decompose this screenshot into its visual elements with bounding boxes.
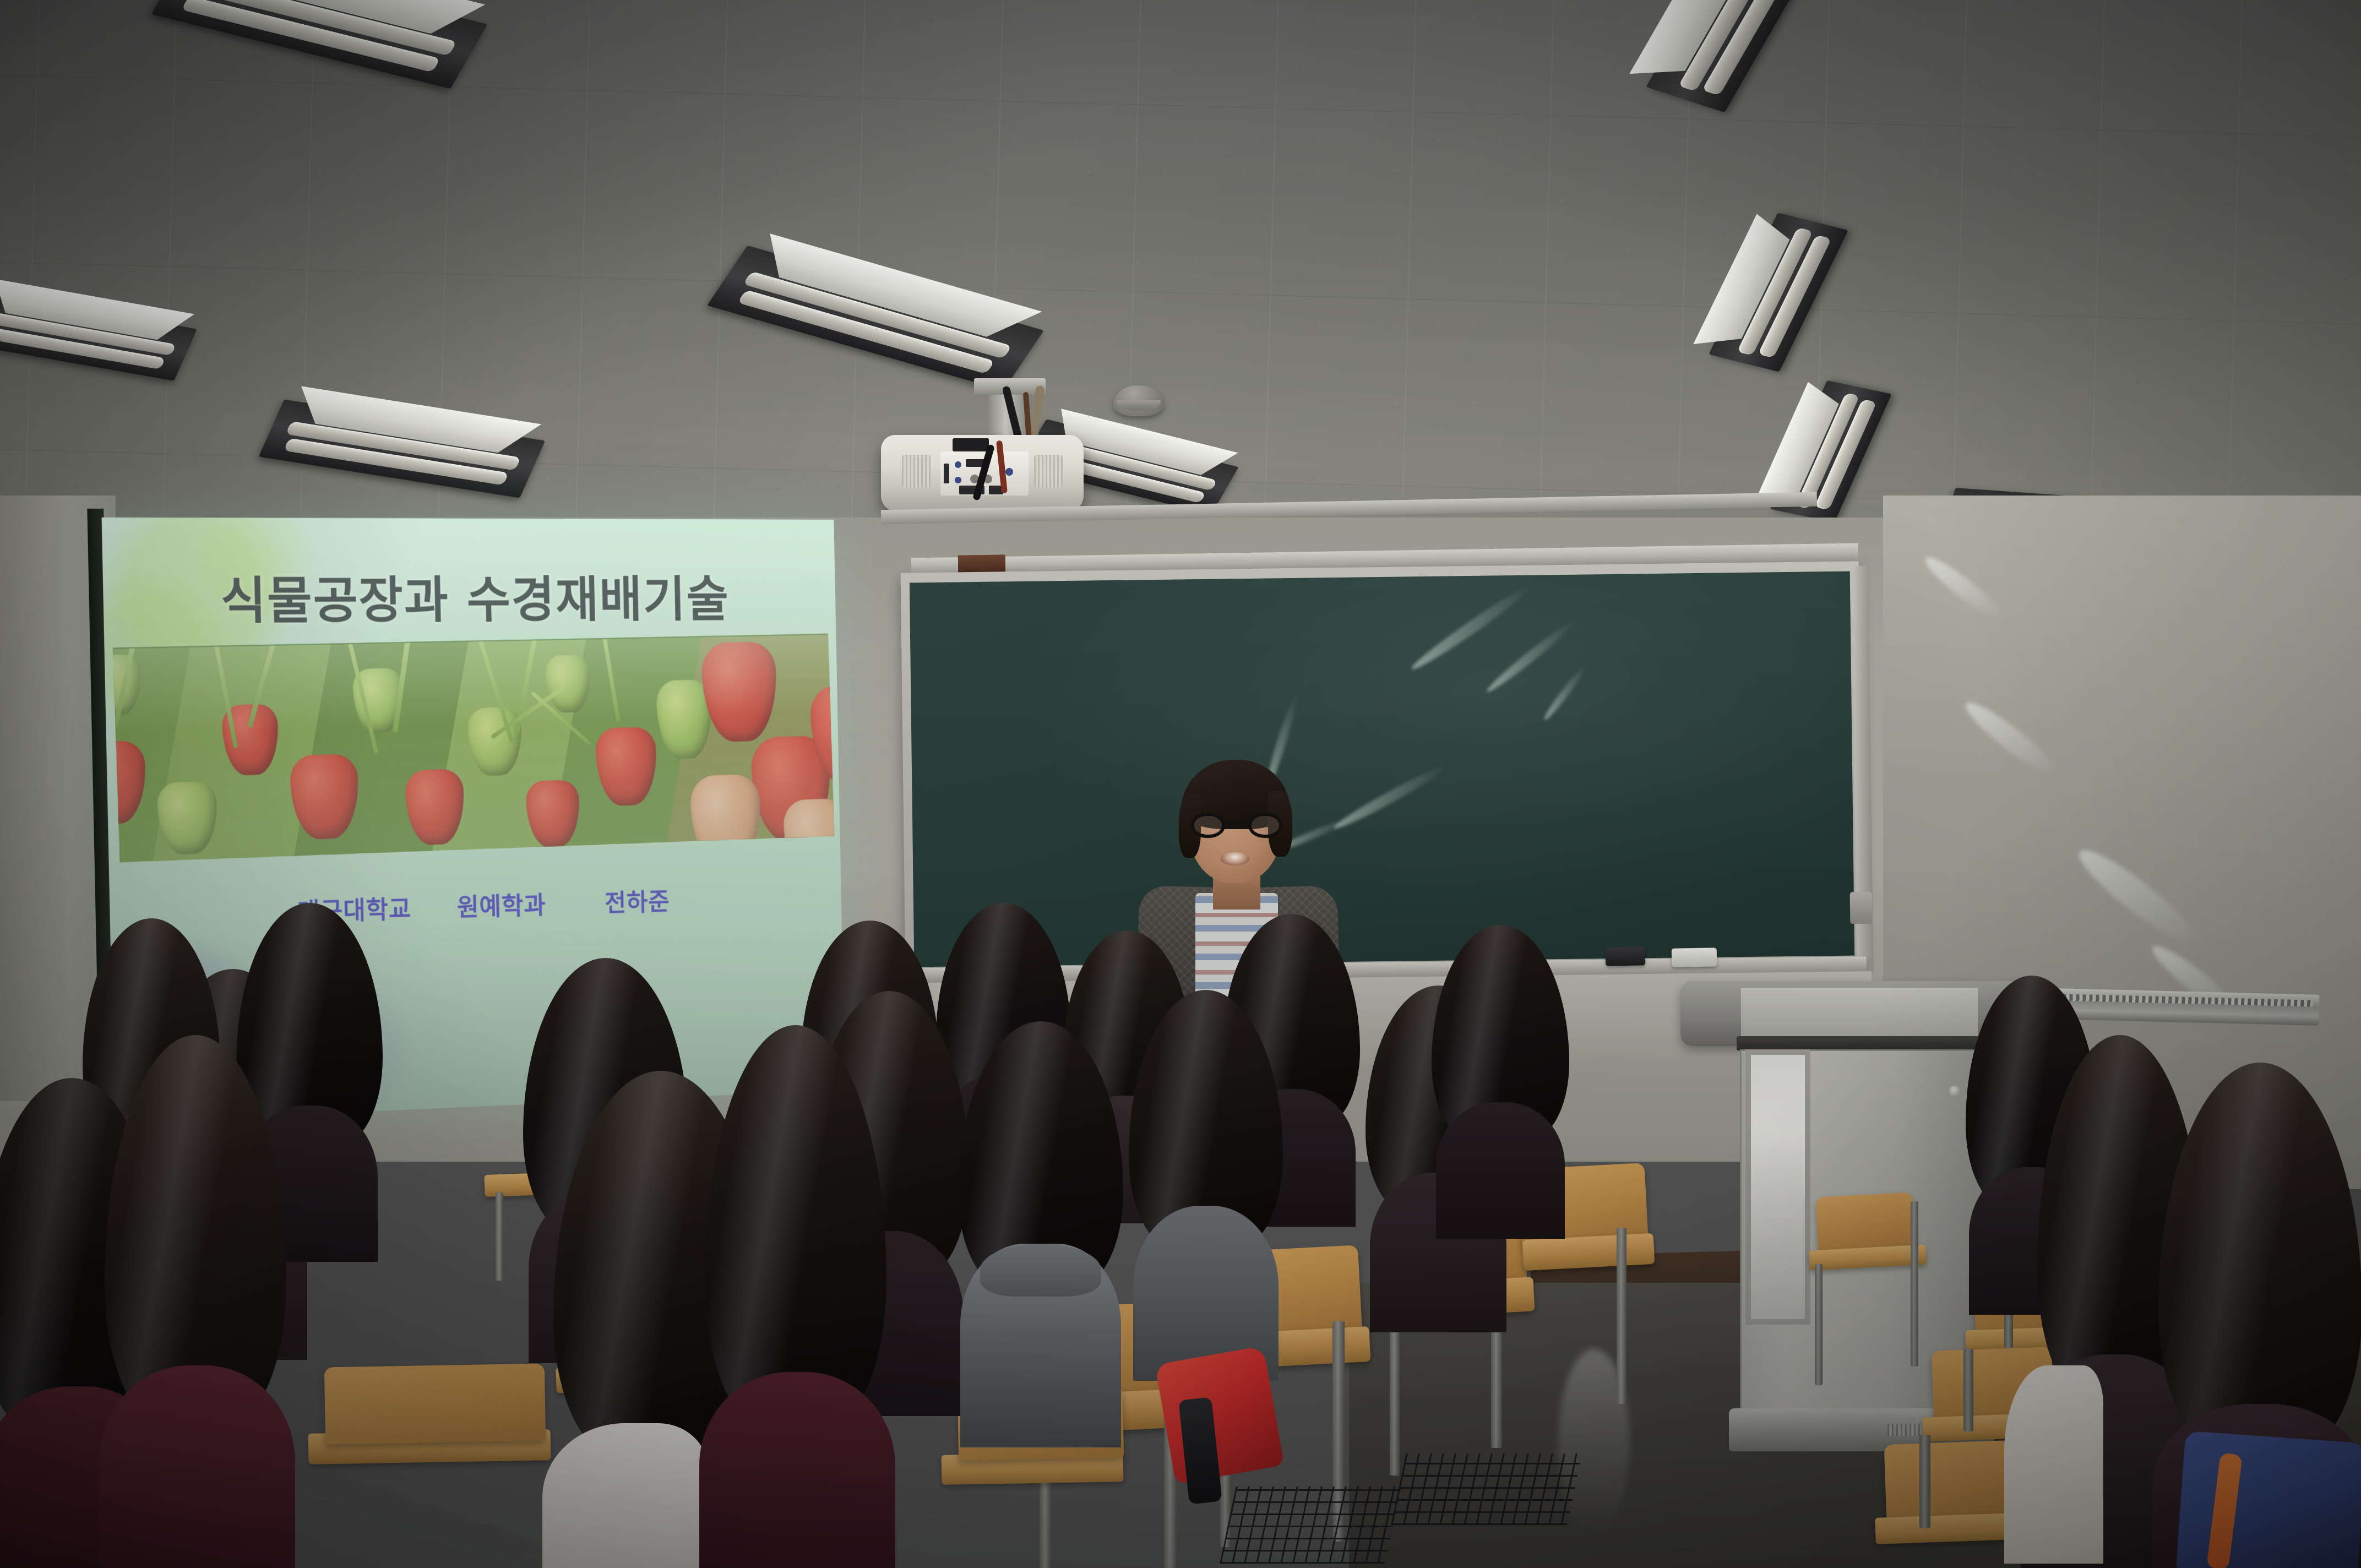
lecture-hall-photo: 식물공장과 수경재배기술	[0, 0, 2361, 1568]
red-backpack	[1155, 1346, 1284, 1484]
seat-back	[324, 1364, 546, 1445]
hoodie-hood	[980, 1244, 1101, 1297]
seat-back	[1884, 1440, 2015, 1522]
presenter-mouth	[1221, 852, 1249, 865]
glasses-icon	[1191, 813, 1282, 838]
slide-title: 식물공장과 수경재배기술	[102, 560, 836, 634]
lectern-lip	[1737, 1036, 1984, 1050]
under-seat-basket	[1220, 1487, 1401, 1564]
lectern-screw	[1949, 1086, 1960, 1097]
under-seat-basket	[1391, 1453, 1582, 1525]
student-front-left-2	[105, 1035, 286, 1568]
slide-photo	[113, 634, 834, 862]
board-eraser	[1606, 946, 1646, 966]
student-right-1	[1432, 925, 1569, 1233]
lectern-panel	[1745, 1049, 1810, 1325]
smoke-detector-icon	[1113, 385, 1164, 416]
rail-bracket	[958, 554, 1006, 574]
projector	[881, 435, 1084, 512]
blue-backpack	[2175, 1431, 2361, 1568]
blackboard-latch	[1850, 892, 1873, 924]
slide-subtitle-department: 원예학과	[456, 885, 546, 923]
fur-collar	[2004, 1365, 2103, 1564]
student-center-4	[1129, 990, 1283, 1375]
student-center-3	[958, 1021, 1123, 1440]
seat-back	[1815, 1192, 1915, 1254]
student-center-mid	[705, 1025, 886, 1568]
projection-wash	[113, 635, 834, 862]
board-eraser	[1672, 948, 1717, 967]
slide-subtitle-presenter: 전하준	[605, 882, 671, 919]
